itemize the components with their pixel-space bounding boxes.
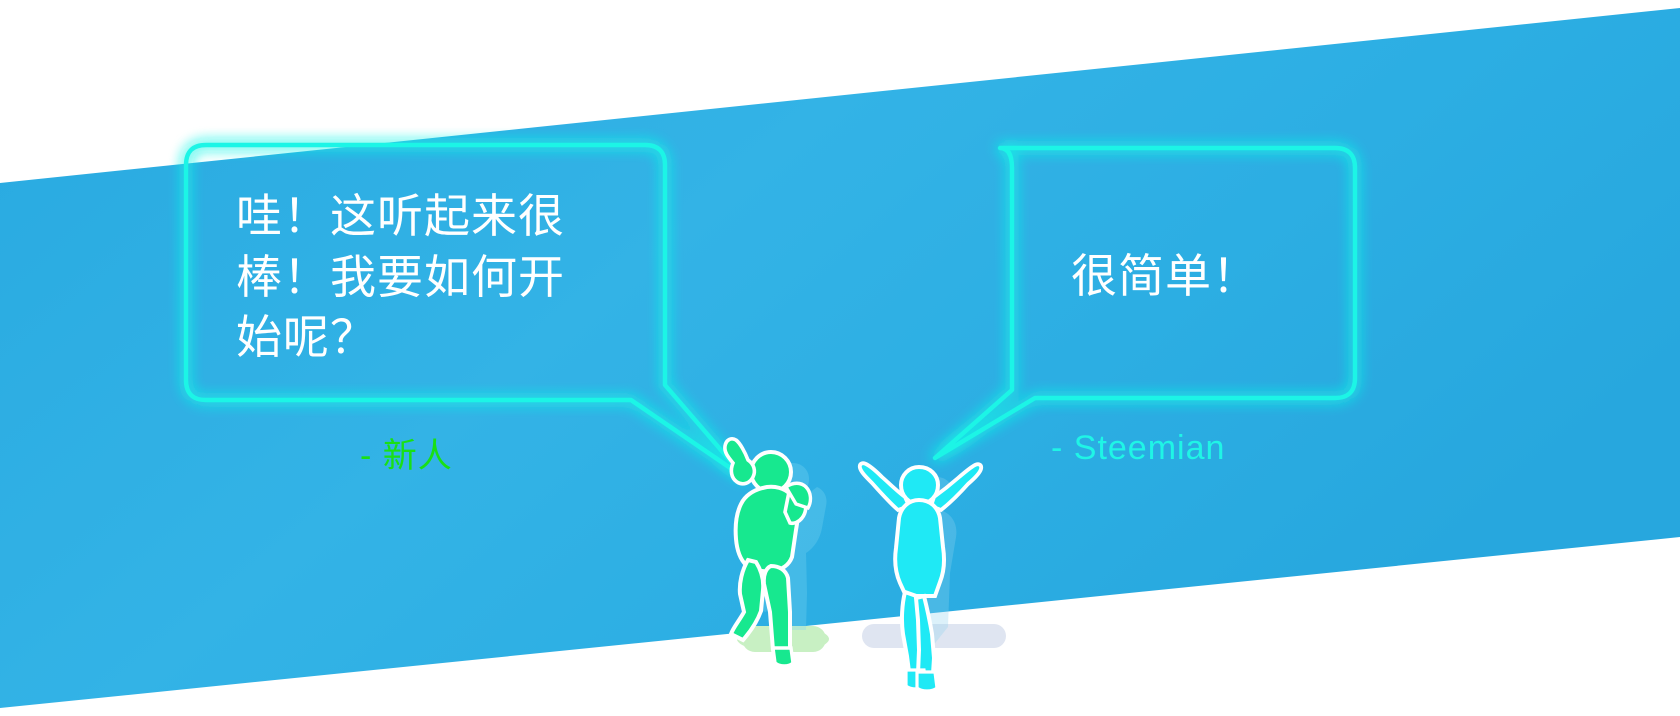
banner-illustration [0, 0, 1680, 716]
illustration-canvas: 哇！这听起来很 棒！我要如何开 始呢？ - 新人 很简单！ - Steemian [0, 0, 1680, 716]
